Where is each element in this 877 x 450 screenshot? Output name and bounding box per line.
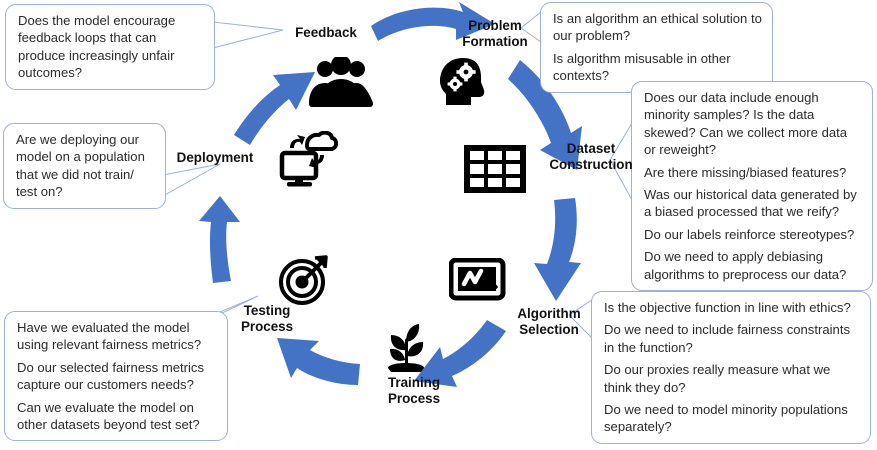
stage-label-problem-formation: Problem Formation — [440, 18, 550, 51]
head-with-gears-icon — [435, 55, 491, 116]
growing-plant-icon — [378, 320, 434, 381]
stage-label-training-process: Training Process — [366, 375, 462, 408]
callout-question: Do our labels reinforce stereotypes? — [644, 226, 862, 243]
feedback-callout-tail — [213, 22, 283, 48]
stage-label-feedback: Feedback — [283, 25, 369, 41]
callout-question: Is the objective function in line with e… — [604, 299, 860, 316]
callout-testing-process: Have we evaluated the model using releva… — [4, 311, 228, 441]
callout-question: Do we need to model minority populations… — [604, 401, 860, 436]
callout-question: Do our selected fairness metrics capture… — [17, 359, 217, 394]
stage-label-dataset-construction: Dataset Construction — [538, 141, 644, 174]
callout-question: Do we need to apply debiasing algorithms… — [644, 248, 862, 283]
callout-algorithm-selection: Is the objective function in line with e… — [591, 291, 871, 444]
callout-question: Is an algorithm an ethical solution to o… — [553, 10, 762, 45]
stage-label-algorithm-selection: Algorithm Selection — [500, 306, 598, 339]
stage-label-testing-process: Testing Process — [222, 303, 312, 336]
stage-label-deployment: Deployment — [170, 150, 260, 166]
callout-question: Do our proxies really measure what we th… — [604, 361, 860, 396]
callout-question: Are we deploying our model on a populati… — [16, 131, 155, 201]
callout-question: Are there missing/biased features? — [644, 164, 862, 181]
callout-question: Is algorithm misusable in other contexts… — [553, 50, 762, 85]
callout-question: Can we evaluate the model on other datas… — [17, 399, 217, 434]
deployment-callout-tail — [163, 164, 220, 196]
people-group-icon — [303, 57, 379, 114]
callout-deployment: Are we deploying our model on a populati… — [3, 123, 166, 209]
callout-question: Does our data include enough minority sa… — [644, 89, 862, 159]
callout-dataset-construction: Does our data include enough minority sa… — [631, 81, 873, 291]
blackboard-zigzag-icon — [449, 258, 509, 309]
ml-lifecycle-diagram: Feedback Problem Formation Dataset Const… — [0, 0, 877, 450]
callout-question: Was our historical data generated by a b… — [644, 186, 862, 221]
callout-problem-formation: Is an algorithm an ethical solution to o… — [540, 2, 773, 93]
callout-feedback: Does the model encourage feedback loops … — [5, 4, 215, 90]
callout-question: Have we evaluated the model using releva… — [17, 319, 217, 354]
callout-question: Do we need to include fairness constrain… — [604, 321, 860, 356]
monitor-cloud-sync-icon — [274, 131, 338, 194]
callout-question: Does the model encourage feedback loops … — [18, 12, 204, 82]
data-table-grid-icon — [464, 145, 526, 198]
